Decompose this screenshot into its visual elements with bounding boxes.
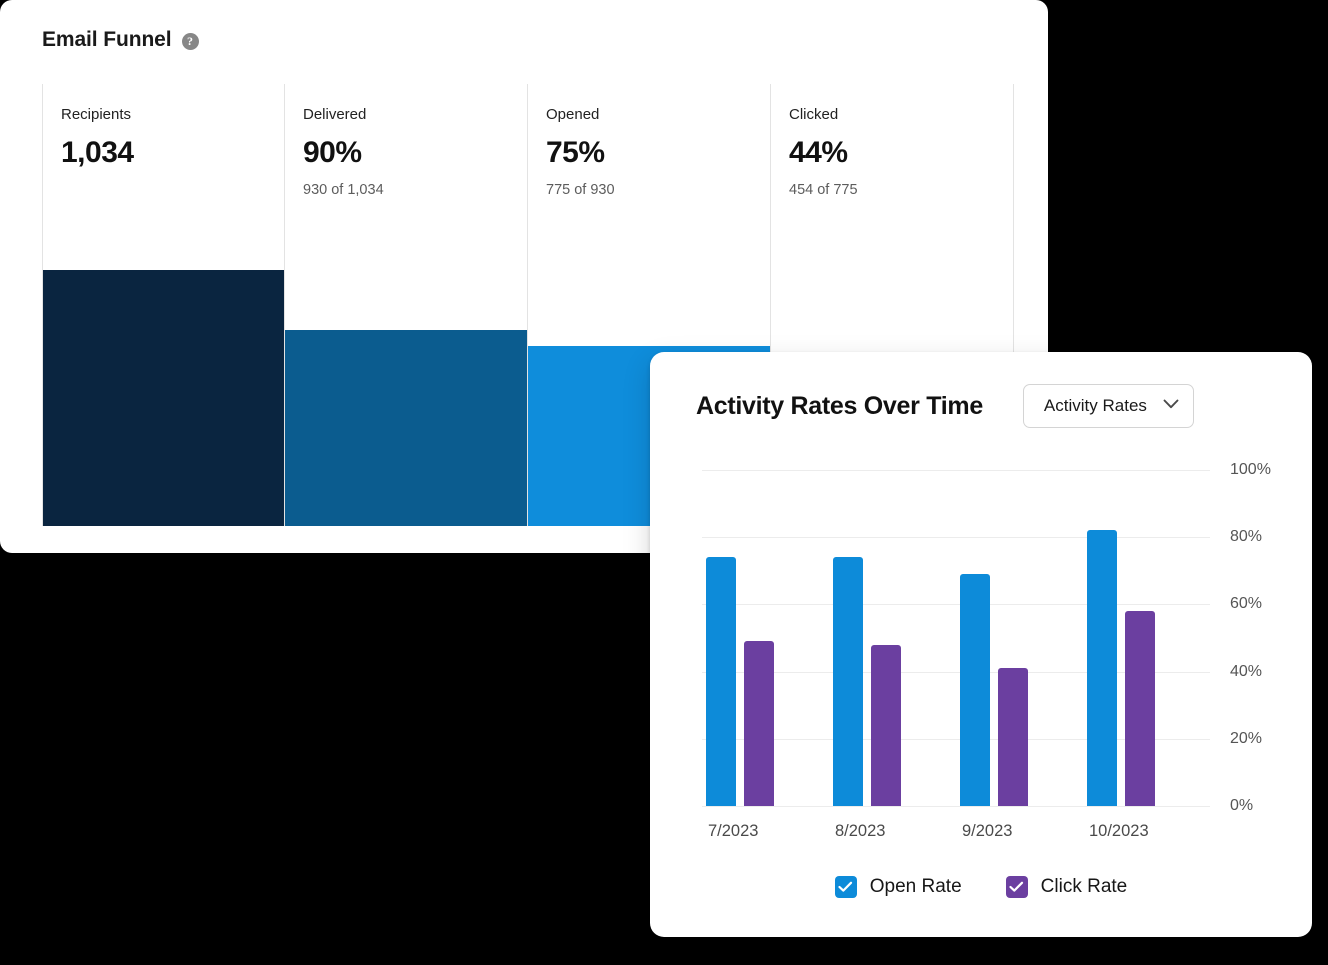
chart-bar[interactable]: [998, 668, 1028, 806]
page-title: Email Funnel: [42, 28, 172, 52]
funnel-bar-delivered: [285, 330, 527, 526]
chart-bar-group: [702, 557, 829, 806]
funnel-stage-delivered: Delivered 90% 930 of 1,034: [284, 84, 527, 526]
checkbox-checked-icon[interactable]: [1006, 876, 1028, 898]
chart-x-tick-label: 10/2023: [1083, 822, 1210, 841]
funnel-stage-text: Delivered 90% 930 of 1,034: [285, 84, 527, 198]
funnel-stage-sub: 930 of 1,034: [303, 182, 527, 198]
chart-bar[interactable]: [960, 574, 990, 806]
funnel-bar-wrap: [43, 270, 284, 526]
chart-bar[interactable]: [744, 641, 774, 806]
funnel-stage-sub: 454 of 775: [789, 182, 1013, 198]
chart-y-tick-label: 60%: [1230, 595, 1262, 613]
chart-y-tick-label: 20%: [1230, 730, 1262, 748]
activity-rates-select-value: Activity Rates: [1044, 396, 1147, 416]
chart-bars: [702, 470, 1210, 806]
chart-y-tick-label: 100%: [1230, 461, 1271, 479]
activity-rates-select[interactable]: Activity Rates: [1023, 384, 1194, 428]
checkbox-checked-icon[interactable]: [835, 876, 857, 898]
screenshot-stage: Email Funnel ? Recipients 1,034 Delivere…: [0, 0, 1328, 965]
legend-label: Open Rate: [870, 876, 962, 898]
chart-y-tick-label: 40%: [1230, 663, 1262, 681]
funnel-stage-sub: 775 of 930: [546, 182, 770, 198]
funnel-stage-text: Clicked 44% 454 of 775: [771, 84, 1013, 198]
legend-item-open-rate[interactable]: Open Rate: [835, 876, 962, 898]
chart-x-tick-label: 8/2023: [829, 822, 956, 841]
help-circle-icon[interactable]: ?: [182, 33, 199, 50]
funnel-stage-value: 90%: [303, 136, 527, 170]
chart-legend: Open RateClick Rate: [650, 876, 1312, 898]
activity-rates-header: Activity Rates Over Time Activity Rates: [650, 352, 1312, 428]
funnel-stage-value: 44%: [789, 136, 1013, 170]
chart-bar-group: [1083, 530, 1210, 806]
chart-bar[interactable]: [1125, 611, 1155, 806]
chart-bar[interactable]: [871, 645, 901, 806]
funnel-bar-recipients: [43, 270, 284, 526]
chart-y-tick-label: 0%: [1230, 797, 1253, 815]
chart-y-tick-label: 80%: [1230, 528, 1262, 546]
chart-x-axis: 7/20238/20239/202310/2023: [702, 822, 1210, 841]
funnel-stage-label: Clicked: [789, 106, 1013, 124]
chart-bar[interactable]: [1087, 530, 1117, 806]
funnel-stage-label: Delivered: [303, 106, 527, 124]
chevron-down-icon: [1163, 399, 1177, 413]
funnel-stage-text: Opened 75% 775 of 930: [528, 84, 770, 198]
funnel-stage-recipients: Recipients 1,034: [42, 84, 284, 526]
chart-x-tick-label: 9/2023: [956, 822, 1083, 841]
email-funnel-header: Email Funnel ?: [0, 0, 1048, 52]
funnel-stage-text: Recipients 1,034: [43, 84, 284, 182]
chart-bar[interactable]: [706, 557, 736, 806]
funnel-stage-label: Recipients: [61, 106, 284, 124]
chart-bar[interactable]: [833, 557, 863, 806]
activity-rates-title: Activity Rates Over Time: [696, 392, 983, 421]
chart-gridline: [702, 806, 1210, 807]
funnel-stage-value: 75%: [546, 136, 770, 170]
legend-label: Click Rate: [1041, 876, 1128, 898]
chart-bar-group: [829, 557, 956, 806]
chart-x-tick-label: 7/2023: [702, 822, 829, 841]
legend-item-click-rate[interactable]: Click Rate: [1006, 876, 1128, 898]
funnel-bar-wrap: [285, 330, 527, 526]
funnel-stage-value: 1,034: [61, 136, 284, 170]
chart-bar-group: [956, 574, 1083, 806]
funnel-stage-label: Opened: [546, 106, 770, 124]
